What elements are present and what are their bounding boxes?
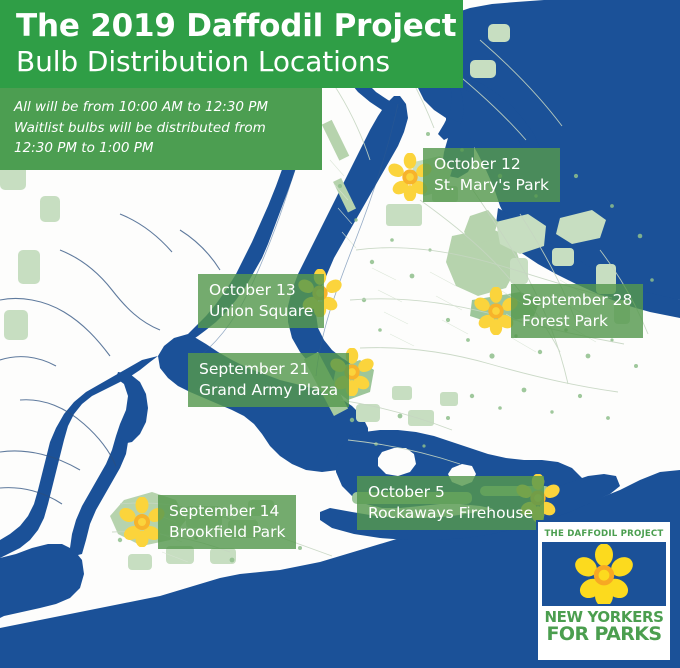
logo-flower-panel — [542, 542, 666, 606]
location-date: September 21 — [199, 359, 338, 380]
note-line-1: All will be from 10:00 AM to 12:30 PM — [0, 97, 322, 118]
location-label-st-marys-park[interactable]: October 12 St. Mary's Park — [423, 148, 560, 202]
header-banner: The 2019 Daffodil Project Bulb Distribut… — [0, 0, 463, 88]
page-subtitle: Bulb Distribution Locations — [0, 43, 463, 77]
location-place: Union Square — [209, 301, 313, 322]
page-title: The 2019 Daffodil Project — [0, 6, 463, 43]
location-label-forest-park[interactable]: September 28 Forest Park — [511, 284, 643, 338]
location-label-brookfield-park[interactable]: September 14 Brookfield Park — [158, 495, 296, 549]
location-label-rockaways-firehouse[interactable]: October 5 Rockaways Firehouse — [357, 476, 544, 530]
poster: The 2019 Daffodil Project Bulb Distribut… — [0, 0, 680, 668]
location-place: St. Mary's Park — [434, 175, 549, 196]
logo-top-text: THE DAFFODIL PROJECT — [542, 526, 666, 542]
organization-logo[interactable]: THE DAFFODIL PROJECT NEW YORKERS FOR PAR… — [536, 520, 672, 662]
logo-bottom-text: NEW YORKERS FOR PARKS — [542, 606, 666, 645]
location-date: October 12 — [434, 154, 549, 175]
location-label-grand-army-plaza[interactable]: September 21 Grand Army Plaza — [188, 353, 349, 407]
note-line-3: 12:30 PM to 1:00 PM — [0, 138, 322, 159]
location-place: Forest Park — [522, 311, 632, 332]
location-place: Grand Army Plaza — [199, 380, 338, 401]
daffodil-logo-icon — [574, 544, 634, 604]
location-place: Brookfield Park — [169, 522, 285, 543]
location-place: Rockaways Firehouse — [368, 503, 533, 524]
location-date: October 13 — [209, 280, 313, 301]
location-date: October 5 — [368, 482, 533, 503]
location-label-union-square[interactable]: October 13 Union Square — [198, 274, 324, 328]
location-date: September 28 — [522, 290, 632, 311]
schedule-note: All will be from 10:00 AM to 12:30 PM Wa… — [0, 88, 322, 170]
note-line-2: Waitlist bulbs will be distributed from — [0, 118, 322, 139]
location-date: September 14 — [169, 501, 285, 522]
logo-line-2: FOR PARKS — [542, 625, 666, 644]
